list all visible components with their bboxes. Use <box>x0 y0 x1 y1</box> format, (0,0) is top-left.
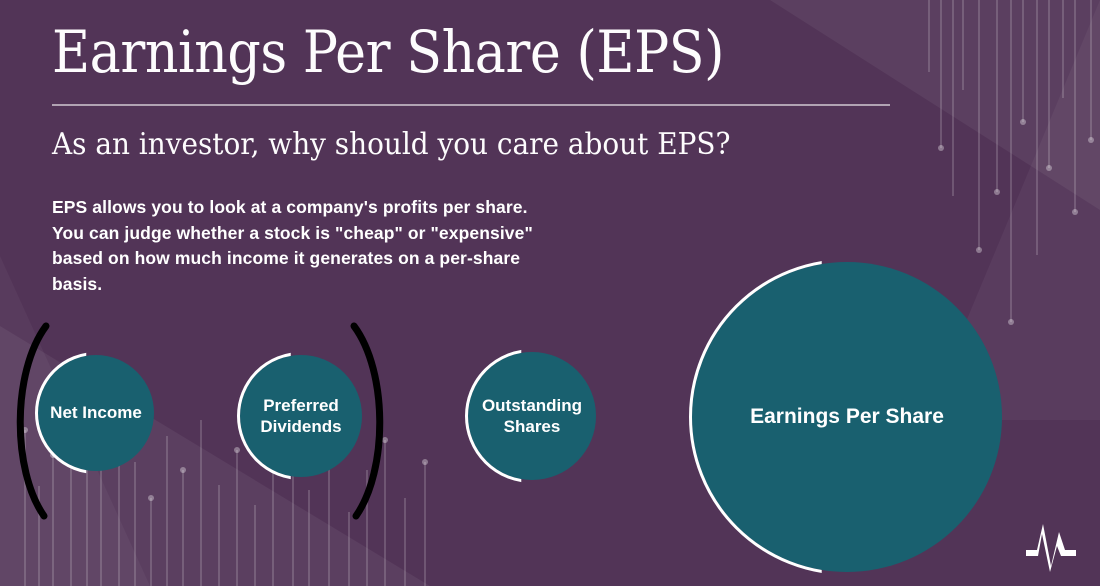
term-outstanding-shares-label: Outstanding Shares <box>468 395 596 438</box>
marketbeat-pulse-logo-icon[interactable] <box>1020 510 1082 572</box>
term-preferred-dividends-label: Preferred Dividends <box>240 395 362 438</box>
ticker-line <box>978 0 980 250</box>
ticker-line <box>952 0 954 196</box>
term-net-income[interactable]: Net Income <box>38 355 154 471</box>
page-title: Earnings Per Share (EPS) <box>52 22 724 83</box>
term-outstanding-shares[interactable]: Outstanding Shares <box>468 352 596 480</box>
ticker-dot <box>1020 119 1026 125</box>
term-net-income-label: Net Income <box>50 402 142 423</box>
eps-formula: Net Income Preferred Dividends Outstandi… <box>0 300 1100 586</box>
body-paragraph: EPS allows you to look at a company's pr… <box>52 195 552 297</box>
ticker-dot <box>1046 165 1052 171</box>
term-result-label: Earnings Per Share <box>750 404 944 430</box>
ticker-dot <box>976 247 982 253</box>
ticker-line <box>962 0 964 90</box>
title-underline-rule <box>52 104 890 106</box>
term-earnings-per-share-result[interactable]: Earnings Per Share <box>692 262 1002 572</box>
ticker-dot <box>938 145 944 151</box>
ticker-dot <box>1088 137 1094 143</box>
ticker-line <box>1022 0 1024 122</box>
ticker-line <box>928 0 930 72</box>
ticker-line <box>940 0 942 148</box>
ticker-line <box>1062 0 1064 98</box>
ticker-dot <box>994 189 1000 195</box>
eps-infographic: Earnings Per Share (EPS) As an investor,… <box>0 0 1100 586</box>
ticker-line <box>1036 0 1038 255</box>
ticker-line <box>1048 0 1050 168</box>
ticker-line <box>1090 0 1092 140</box>
ticker-dot <box>1072 209 1078 215</box>
page-subtitle: As an investor, why should you care abou… <box>52 127 730 162</box>
ticker-line <box>1074 0 1076 212</box>
ticker-line <box>1010 0 1012 322</box>
ticker-line <box>996 0 998 192</box>
